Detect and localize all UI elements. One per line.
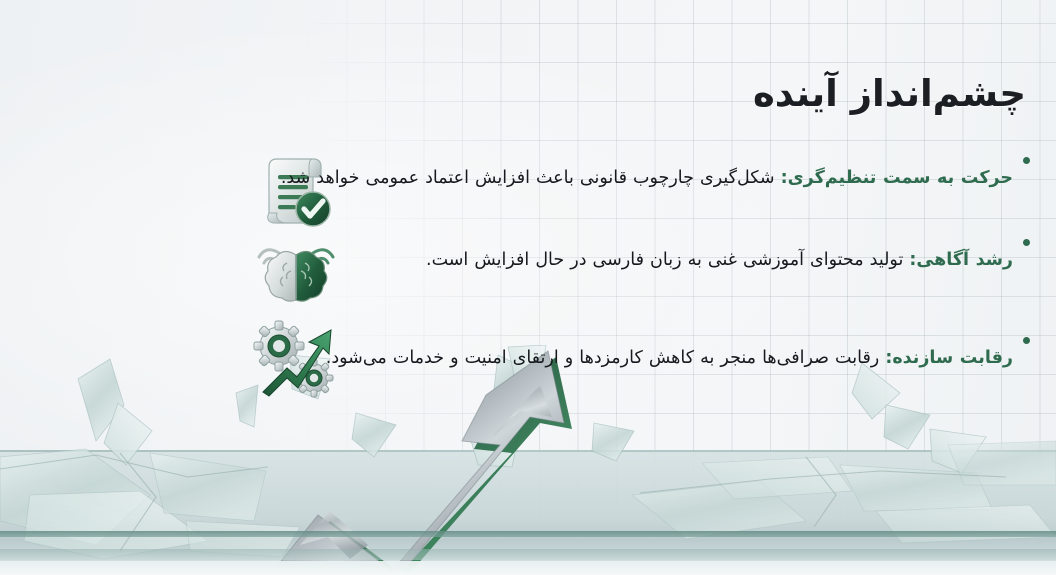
bullet-body-text: تولید محتوای آموزشی غنی به زبان فارسی در… [426,250,909,270]
list-item: رقابت سازنده: رقابت صرافی‌ها منجر به کاه… [245,325,1034,391]
bullet-dot-icon [1023,157,1030,164]
bullet-list: حرکت به سمت تنظیم‌گری: شکل‌گیری چارچوب ق… [245,145,1034,407]
bullet-text: رقابت سازنده: رقابت صرافی‌ها منجر به کاه… [245,343,1013,374]
bullet-dot-icon [1023,337,1030,344]
list-item: حرکت به سمت تنظیم‌گری: شکل‌گیری چارچوب ق… [245,145,1034,211]
bullet-body-text: شکل‌گیری چارچوب قانونی باعث افزایش اعتما… [281,168,781,188]
presentation-slide: چشم‌انداز آینده [0,0,1056,575]
bullet-text: رشد آگاهی: تولید محتوای آموزشی غنی به زب… [245,245,1013,276]
page-title: چشم‌انداز آینده [753,71,1026,117]
bullet-lead-label: حرکت به سمت تنظیم‌گری: [781,168,1013,188]
list-item: رشد آگاهی: تولید محتوای آموزشی غنی به زب… [245,227,1034,293]
bullet-lead-label: رقابت سازنده: [885,348,1013,368]
bullet-body-text: رقابت صرافی‌ها منجر به کاهش کارمزدها و ا… [326,348,886,368]
bullet-dot-icon [1023,239,1030,246]
bullet-text: حرکت به سمت تنظیم‌گری: شکل‌گیری چارچوب ق… [245,163,1013,194]
bullet-lead-label: رشد آگاهی: [909,250,1013,270]
